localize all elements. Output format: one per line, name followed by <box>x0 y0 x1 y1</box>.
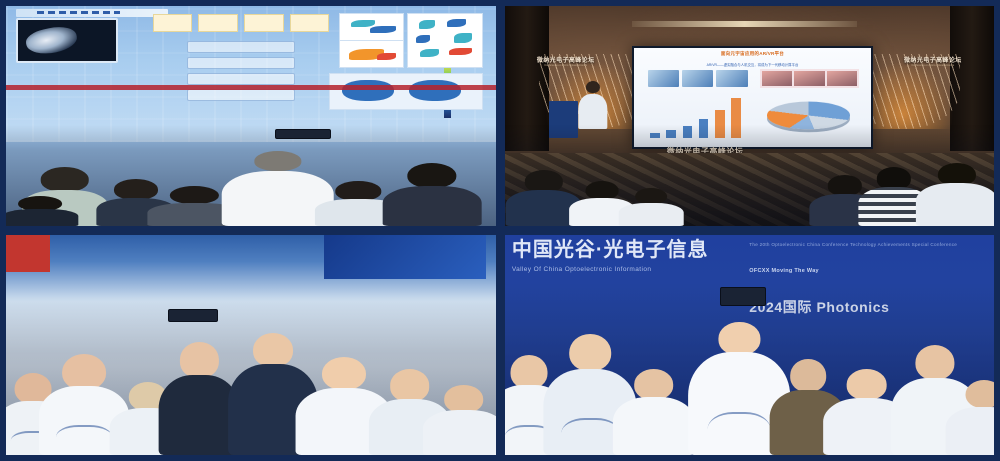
screen-header-bar <box>16 9 168 17</box>
stage-banner-left: 微纳光电子高峰论坛 Conference on Micro Optoelectr… <box>517 52 615 70</box>
slide-title: 面向元宇宙应用的AR/VR平台 <box>634 48 871 61</box>
panel-lecture-hall-with-projector-slide: 微纳光电子高峰论坛 Conference on Micro Optoelectr… <box>505 6 995 226</box>
screen-dark-image-tile <box>16 18 118 63</box>
ceiling-light-strip <box>632 21 857 27</box>
audience-silhouettes <box>6 125 496 226</box>
slide-image-row-right <box>760 69 860 88</box>
crowd-foreground <box>6 297 496 455</box>
collage-grid: 微纳光电子高峰论坛 Conference on Micro Optoelectr… <box>0 0 1000 461</box>
smartphone-raised <box>275 129 331 139</box>
backdrop-tagline: OFCXX Moving The Way <box>749 268 819 274</box>
blue-exhibit-panel <box>324 235 486 279</box>
slide-subtitle: AR/VR——虚实融合与人机交互，将成为下一代移动计算平台 <box>648 61 857 68</box>
panel-dense-audience-crowd <box>6 235 496 455</box>
stage-banner-left-cn: 微纳光电子高峰论坛 <box>537 55 595 64</box>
photo-collage: 微纳光电子高峰论坛 Conference on Micro Optoelectr… <box>0 0 1000 461</box>
camera-raised <box>720 287 766 306</box>
stage-banner-right-cn: 微纳光电子高峰论坛 <box>904 55 962 64</box>
backdrop-subtitle-en: The 20th Optoelectronic China Conference… <box>749 242 957 247</box>
backdrop-title-cn: 中国光谷·光电子信息 <box>512 235 709 262</box>
speaker-on-stage <box>578 81 607 129</box>
screen-thumbnail-2 <box>339 40 405 68</box>
audience-crowd <box>505 283 995 455</box>
audience-seated <box>505 125 995 226</box>
smartphone-raised <box>168 309 219 322</box>
backdrop-title-en: Valley Of China Optoelectronic Informati… <box>512 266 652 273</box>
panel-audience-photographing-presentation-screen <box>6 6 496 226</box>
screen-thumbnail-1 <box>339 13 405 41</box>
panel-audience-in-front-of-blue-stage-banner: 中国光谷·光电子信息 Valley Of China Optoelectroni… <box>505 235 995 455</box>
stage-banner-right: 微纳光电子高峰论坛 Conference on Micro Optoelectr… <box>884 52 982 70</box>
screen-box-row <box>153 14 329 32</box>
slide-image-row-left <box>648 70 748 87</box>
screen-wide-diagram <box>329 73 483 110</box>
stage-red-skirt <box>6 85 496 90</box>
screen-flow-column <box>187 41 295 101</box>
stage-banner-left-en: Conference on Micro Optoelectronics <box>544 64 587 67</box>
presentation-screen <box>6 6 496 142</box>
screen-thumbnail-3 <box>407 13 482 68</box>
stage-banner-right-en: Conference on Micro Optoelectronics <box>911 64 954 67</box>
red-backdrop-panel <box>6 235 50 272</box>
